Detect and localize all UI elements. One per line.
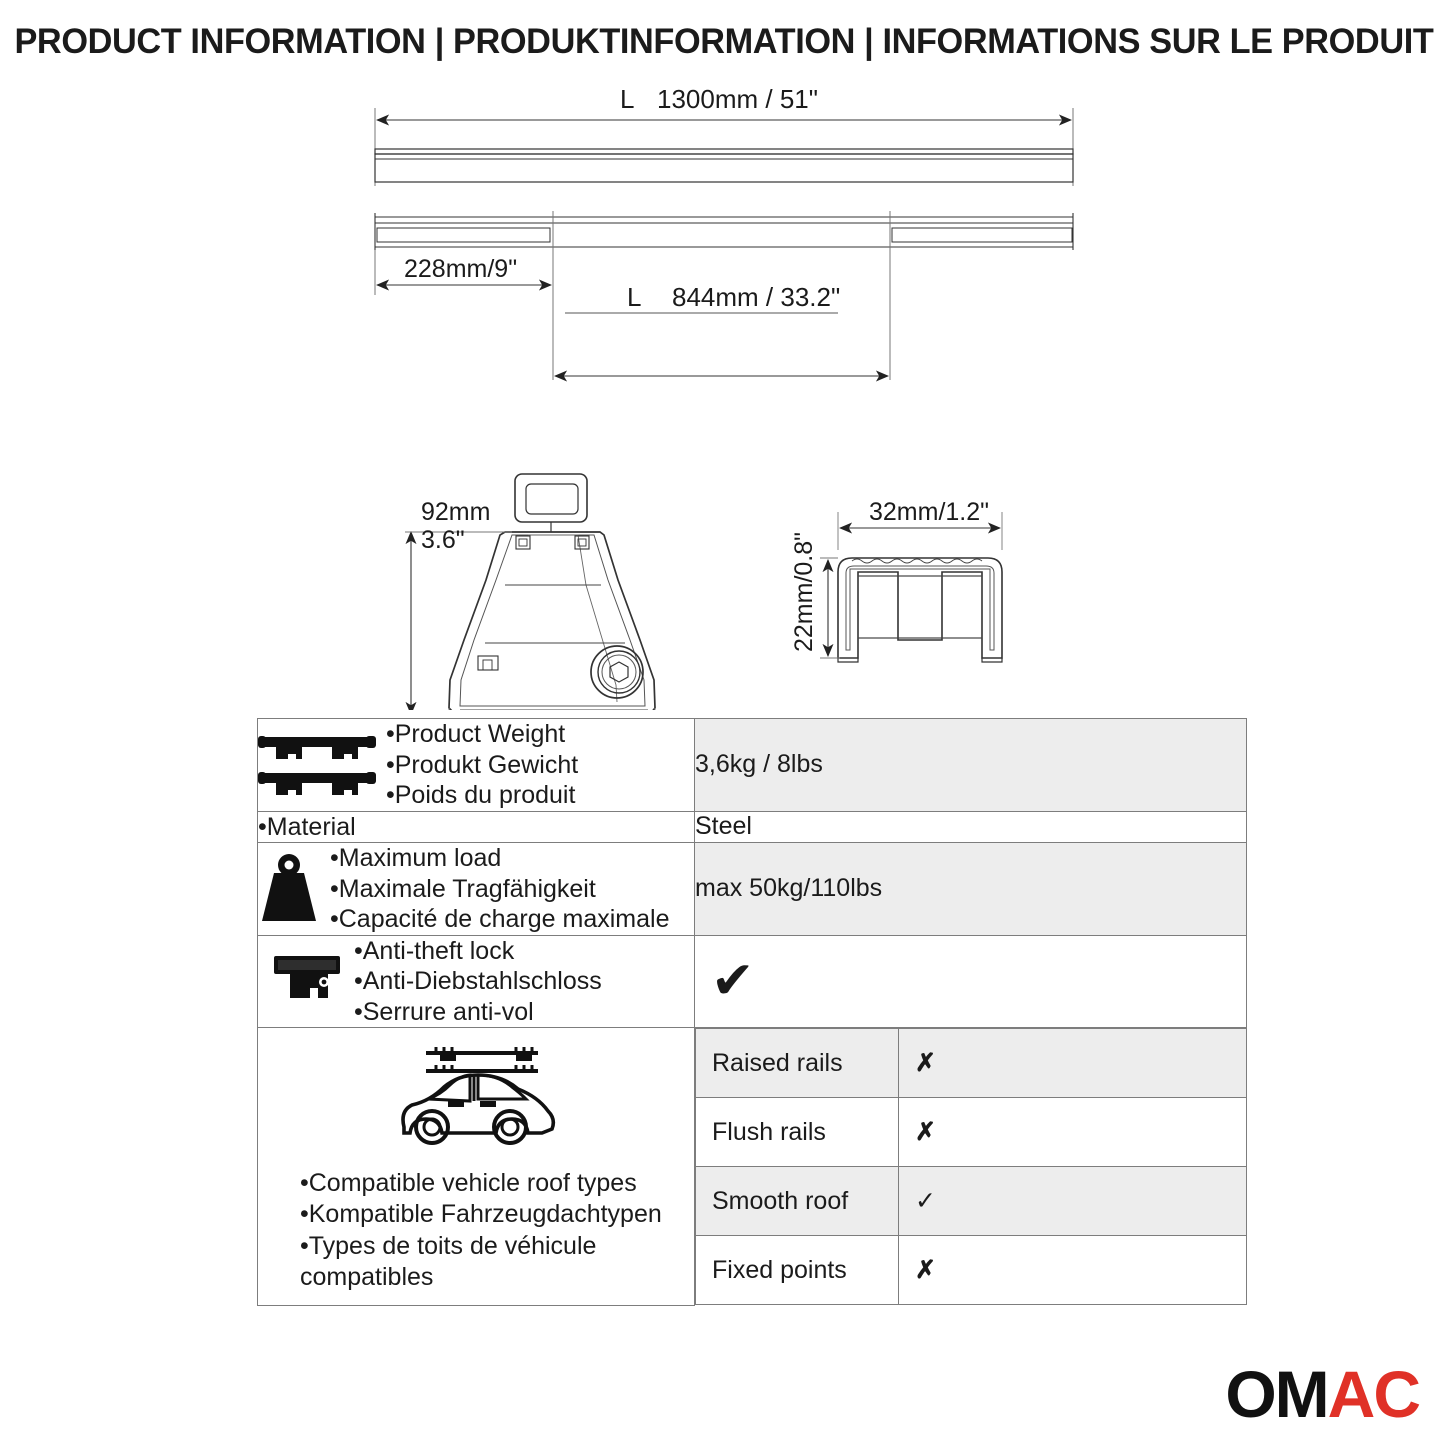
- label-line-de: •Anti-Diebstahlschloss: [354, 966, 602, 997]
- label-line-en: •Product Weight: [386, 719, 578, 750]
- label-line-fr-cont: compatibles: [300, 1262, 662, 1294]
- table-row-maximum-load: •Maximum load •Maximale Tragfähigkeit •C…: [258, 843, 1247, 936]
- label-cell-maximum-load: •Maximum load •Maximale Tragfähigkeit •C…: [258, 843, 695, 936]
- lock-icon: [272, 952, 344, 1010]
- roof-type-name: Flush rails: [696, 1098, 899, 1167]
- roof-type-mark: ✗: [899, 1029, 1247, 1098]
- car-with-roof-bars-icon: [388, 1039, 564, 1164]
- technical-drawing: L 1300mm / 51" 228mm/9" L 844mm / 33.2" …: [0, 80, 1445, 710]
- label-line-en: •Material: [258, 812, 356, 843]
- label-text-material: •Material: [258, 812, 356, 843]
- roof-types-table: Raised rails ✗ Flush rails ✗ Smooth roof…: [695, 1028, 1247, 1305]
- specification-table: •Product Weight •Produkt Gewicht •Poids …: [257, 718, 1247, 1306]
- roof-type-row-fixed-points: Fixed points ✗: [696, 1236, 1247, 1305]
- roof-type-row-raised-rails: Raised rails ✗: [696, 1029, 1247, 1098]
- roof-type-row-smooth-roof: Smooth roof ✓: [696, 1167, 1247, 1236]
- label-cell-anti-theft-lock: •Anti-theft lock •Anti-Diebstahlschloss …: [258, 935, 695, 1028]
- table-row-anti-theft-lock: •Anti-theft lock •Anti-Diebstahlschloss …: [258, 935, 1247, 1028]
- roof-type-mark: ✓: [899, 1167, 1247, 1236]
- dim-foot-offset: 228mm/9": [404, 255, 517, 283]
- dim-profile-width: 32mm/1.2": [869, 498, 989, 526]
- label-text-compatible-roof-types: •Compatible vehicle roof types •Kompatib…: [258, 1168, 662, 1294]
- label-line-fr: •Serrure anti-vol: [354, 997, 602, 1028]
- roof-type-row-flush-rails: Flush rails ✗: [696, 1098, 1247, 1167]
- label-line-fr: •Poids du produit: [386, 780, 578, 811]
- label-text-maximum-load: •Maximum load •Maximale Tragfähigkeit •C…: [330, 843, 669, 935]
- value-cell-product-weight: 3,6kg / 8lbs: [695, 719, 1247, 812]
- label-cell-material: •Material: [258, 811, 695, 843]
- dim-foot-height-line2: 3.6": [421, 526, 465, 554]
- label-line-de: •Maximale Tragfähigkeit: [330, 874, 669, 905]
- page-title: PRODUCT INFORMATION | PRODUKTINFORMATION…: [14, 22, 1430, 62]
- dim-span-value: 844mm / 33.2": [672, 282, 840, 312]
- roof-type-name: Smooth roof: [696, 1167, 899, 1236]
- label-cell-product-weight: •Product Weight •Produkt Gewicht •Poids …: [258, 719, 695, 812]
- roof-type-name: Raised rails: [696, 1029, 899, 1098]
- crossbars-icon: [258, 727, 376, 803]
- label-text-product-weight: •Product Weight •Produkt Gewicht •Poids …: [386, 719, 578, 811]
- dim-span-prefix: L: [627, 282, 641, 312]
- label-text-anti-theft-lock: •Anti-theft lock •Anti-Diebstahlschloss …: [354, 936, 602, 1028]
- value-cell-material: Steel: [695, 811, 1247, 843]
- label-cell-compatible-roof-types: •Compatible vehicle roof types •Kompatib…: [258, 1028, 695, 1306]
- label-line-fr: •Types de toits de véhicule: [300, 1231, 662, 1263]
- dim-foot-height-line1: 92mm: [421, 498, 490, 526]
- dim-profile-height: 22mm/0.8": [790, 532, 818, 652]
- roof-type-mark: ✗: [899, 1098, 1247, 1167]
- logo-text-accent: AC: [1328, 1357, 1419, 1431]
- label-line-en: •Compatible vehicle roof types: [300, 1168, 662, 1200]
- value-cell-maximum-load: max 50kg/110lbs: [695, 843, 1247, 936]
- logo-text-dark: OM: [1225, 1357, 1327, 1431]
- roof-type-name: Fixed points: [696, 1236, 899, 1305]
- roof-type-mark: ✗: [899, 1236, 1247, 1305]
- dim-bar-length-value: 1300mm / 51": [657, 84, 818, 114]
- label-line-en: •Anti-theft lock: [354, 936, 602, 967]
- value-cell-anti-theft-lock: ✔: [695, 935, 1247, 1028]
- label-line-de: •Produkt Gewicht: [386, 750, 578, 781]
- label-line-en: •Maximum load: [330, 843, 669, 874]
- page-header: PRODUCT INFORMATION | PRODUKTINFORMATION…: [0, 22, 1445, 62]
- label-line-fr: •Capacité de charge maximale: [330, 904, 669, 935]
- table-row-product-weight: •Product Weight •Produkt Gewicht •Poids …: [258, 719, 1247, 812]
- omac-logo: OMAC: [1225, 1361, 1419, 1427]
- weight-icon: [258, 853, 320, 925]
- label-line-de: •Kompatible Fahrzeugdachtypen: [300, 1199, 662, 1231]
- roof-types-cell: Raised rails ✗ Flush rails ✗ Smooth roof…: [695, 1028, 1247, 1306]
- table-row-compatible-roof-types: •Compatible vehicle roof types •Kompatib…: [258, 1028, 1247, 1306]
- dim-bar-length-prefix: L: [620, 84, 634, 114]
- table-row-material: •Material Steel: [258, 811, 1247, 843]
